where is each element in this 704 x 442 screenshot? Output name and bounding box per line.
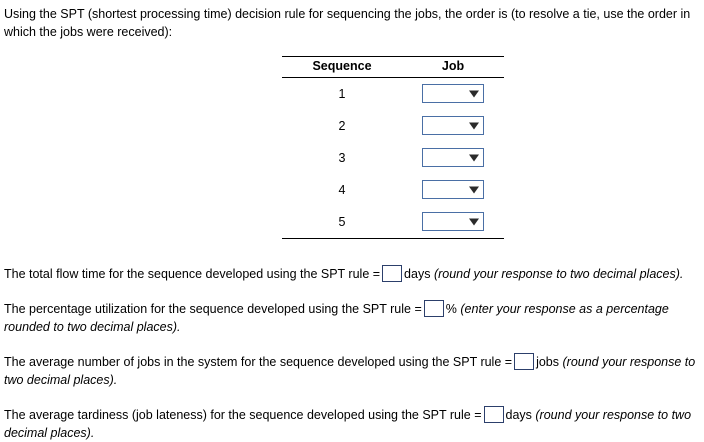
sequence-number: 1 [282, 77, 402, 110]
question-note: (round your response to two decimal plac… [434, 267, 683, 281]
question-lead-text: The average tardiness (job lateness) for… [4, 408, 482, 422]
job-dropdown-2[interactable] [422, 116, 484, 135]
sequence-number: 2 [282, 110, 402, 142]
question-average-jobs: The average number of jobs in the system… [4, 353, 700, 389]
sequence-table-body: 1 2 [282, 77, 504, 238]
job-cell [402, 174, 504, 206]
average-tardiness-input[interactable] [484, 406, 504, 423]
question-unit: jobs [536, 355, 559, 369]
percentage-utilization-input[interactable] [424, 300, 444, 317]
table-header-row: Sequence Job [282, 56, 504, 77]
job-cell [402, 110, 504, 142]
sequence-table: Sequence Job 1 2 [282, 56, 504, 239]
table-row: 3 [282, 142, 504, 174]
table-row: 2 [282, 110, 504, 142]
job-dropdown-4[interactable] [422, 180, 484, 199]
intro-text: Using the SPT (shortest processing time)… [4, 6, 700, 42]
sequence-number: 3 [282, 142, 402, 174]
question-lead-text: The average number of jobs in the system… [4, 355, 512, 369]
sequence-number: 5 [282, 206, 402, 239]
column-header-sequence: Sequence [282, 56, 402, 77]
chevron-down-icon [469, 186, 479, 193]
worksheet-page: Using the SPT (shortest processing time)… [0, 0, 704, 433]
table-row: 5 [282, 206, 504, 239]
job-cell [402, 206, 504, 239]
question-total-flow-time: The total flow time for the sequence dev… [4, 265, 700, 283]
sequence-number: 4 [282, 174, 402, 206]
average-jobs-input[interactable] [514, 353, 534, 370]
chevron-down-icon [469, 154, 479, 161]
job-dropdown-3[interactable] [422, 148, 484, 167]
sequence-table-head: Sequence Job [282, 56, 504, 77]
question-percentage-utilization: The percentage utilization for the seque… [4, 300, 700, 336]
total-flow-time-input[interactable] [382, 265, 402, 282]
job-dropdown-5[interactable] [422, 212, 484, 231]
chevron-down-icon [469, 90, 479, 97]
table-row: 4 [282, 174, 504, 206]
job-cell [402, 142, 504, 174]
question-lead-text: The percentage utilization for the seque… [4, 302, 422, 316]
chevron-down-icon [469, 218, 479, 225]
question-average-tardiness: The average tardiness (job lateness) for… [4, 406, 700, 442]
chevron-down-icon [469, 122, 479, 129]
question-unit: days [506, 408, 532, 422]
job-cell [402, 77, 504, 110]
sequence-table-wrapper: Sequence Job 1 2 [4, 56, 700, 239]
question-unit: days [404, 267, 430, 281]
job-dropdown-1[interactable] [422, 84, 484, 103]
table-row: 1 [282, 77, 504, 110]
question-unit: % [446, 302, 457, 316]
question-lead-text: The total flow time for the sequence dev… [4, 267, 380, 281]
column-header-job: Job [402, 56, 504, 77]
